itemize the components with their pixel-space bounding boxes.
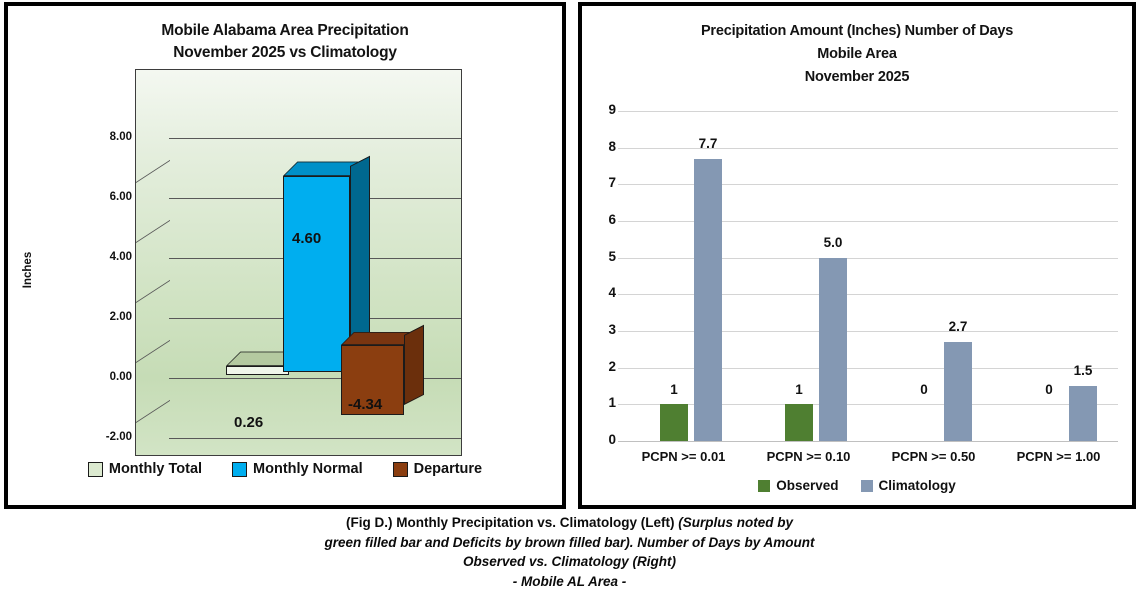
left-chart-legend: Monthly Total Monthly Normal Departure [8, 461, 562, 477]
right-y-axis-tick-labels: 9 8 7 6 5 4 3 2 1 0 [590, 111, 616, 441]
legend-label-observed: Observed [776, 478, 838, 493]
bar-value-departure: -4.34 [348, 396, 382, 413]
bar-label-observed-1: 1 [785, 382, 813, 397]
right-chart-title-line2: Mobile Area [582, 43, 1132, 66]
bar-climatology-0 [694, 159, 722, 441]
right-chart-legend: Observed Climatology [582, 478, 1132, 493]
right-chart-panel: Precipitation Amount (Inches) Number of … [578, 2, 1136, 509]
left-ytick-4: 4.00 [78, 251, 132, 263]
left-y-axis-tick-labels: 8.00 6.00 4.00 2.00 0.00 -2.00 [70, 69, 132, 456]
bar-label-climatology-2: 2.7 [944, 319, 972, 334]
legend-item-climatology[interactable]: Climatology [861, 478, 956, 493]
right-ytick-7: 7 [596, 175, 616, 190]
right-gridline-9 [618, 111, 1118, 112]
caption-line-3: Observed vs. Climatology (Right) [0, 552, 1139, 572]
right-ytick-6: 6 [596, 212, 616, 227]
legend-label-departure: Departure [414, 461, 483, 477]
xtick-pcpn-001: PCPN >= 0.01 [621, 449, 746, 464]
bar-climatology-2 [944, 342, 972, 441]
caption-line-4: - Mobile AL Area - [0, 572, 1139, 592]
left-ytick-0: 0.00 [78, 371, 132, 383]
left-plot-area: 0.26 4.60 -4.34 [135, 69, 462, 456]
legend-swatch-monthly-normal [232, 462, 247, 477]
legend-label-climatology: Climatology [879, 478, 956, 493]
left-chart-title-line1: Mobile Alabama Area Precipitation [8, 20, 562, 42]
caption-line-1-italic: (Surplus noted by [678, 515, 793, 530]
caption-line-1-plain: (Fig D.) Monthly Precipitation vs. Clima… [346, 515, 678, 530]
bar-label-observed-3: 0 [1035, 382, 1063, 397]
right-gridline-8 [618, 148, 1118, 149]
left-chart-title-line2: November 2025 vs Climatology [8, 42, 562, 64]
left-chart-title: Mobile Alabama Area Precipitation Novemb… [8, 20, 562, 64]
right-gridline-4 [618, 294, 1118, 295]
bar-monthly-normal [283, 176, 350, 372]
bar-label-climatology-3: 1.5 [1069, 363, 1097, 378]
xtick-pcpn-010: PCPN >= 0.10 [746, 449, 871, 464]
legend-label-monthly-normal: Monthly Normal [253, 461, 363, 477]
right-ytick-0: 0 [596, 432, 616, 447]
legend-swatch-climatology [861, 480, 873, 492]
caption-line-1: (Fig D.) Monthly Precipitation vs. Clima… [0, 513, 1139, 533]
xtick-pcpn-100: PCPN >= 1.00 [996, 449, 1121, 464]
legend-item-observed[interactable]: Observed [758, 478, 838, 493]
right-chart-title: Precipitation Amount (Inches) Number of … [582, 20, 1132, 89]
bar-label-observed-2: 0 [910, 382, 938, 397]
bar-label-climatology-1: 5.0 [819, 235, 847, 250]
right-ytick-2: 2 [596, 359, 616, 374]
right-x-axis-tick-labels: PCPN >= 0.01 PCPN >= 0.10 PCPN >= 0.50 P… [618, 449, 1118, 469]
right-ytick-4: 4 [596, 285, 616, 300]
right-ytick-9: 9 [596, 102, 616, 117]
legend-item-monthly-normal[interactable]: Monthly Normal [232, 461, 363, 477]
right-gridline-5 [618, 258, 1118, 259]
legend-item-departure[interactable]: Departure [393, 461, 483, 477]
caption-line-2: green filled bar and Deficits by brown f… [0, 533, 1139, 553]
right-ytick-3: 3 [596, 322, 616, 337]
legend-label-monthly-total: Monthly Total [109, 461, 202, 477]
right-ytick-8: 8 [596, 139, 616, 154]
bar-climatology-3 [1069, 386, 1097, 441]
legend-item-monthly-total[interactable]: Monthly Total [88, 461, 202, 477]
right-gridline-2 [618, 368, 1118, 369]
figure-caption: (Fig D.) Monthly Precipitation vs. Clima… [0, 513, 1139, 591]
right-ytick-1: 1 [596, 395, 616, 410]
bar-value-monthly-normal: 4.60 [292, 230, 321, 247]
right-axis-baseline [618, 441, 1118, 442]
bar-monthly-total [226, 366, 289, 375]
left-chart-panel: Mobile Alabama Area Precipitation Novemb… [4, 2, 566, 509]
legend-swatch-departure [393, 462, 408, 477]
bar-climatology-1 [819, 258, 847, 441]
right-chart-title-line1: Precipitation Amount (Inches) Number of … [582, 20, 1132, 43]
right-gridline-1 [618, 404, 1118, 405]
bar-label-climatology-0: 7.7 [694, 136, 722, 151]
left-ytick-2: 2.00 [78, 311, 132, 323]
right-gridline-7 [618, 184, 1118, 185]
right-gridline-3 [618, 331, 1118, 332]
legend-swatch-monthly-total [88, 462, 103, 477]
right-ytick-5: 5 [596, 249, 616, 264]
right-chart-title-line3: November 2025 [582, 66, 1132, 89]
bar-label-observed-0: 1 [660, 382, 688, 397]
left-y-axis-title: Inches [22, 230, 34, 310]
legend-swatch-observed [758, 480, 770, 492]
right-gridline-6 [618, 221, 1118, 222]
xtick-pcpn-050: PCPN >= 0.50 [871, 449, 996, 464]
right-plot-area: 1 7.7 1 5.0 0 2.7 0 1.5 [618, 111, 1118, 441]
left-ytick-6: 6.00 [78, 191, 132, 203]
bar-observed-0 [660, 404, 688, 441]
bar-observed-1 [785, 404, 813, 441]
left-ytick-neg2: -2.00 [78, 431, 132, 443]
left-ytick-8: 8.00 [78, 131, 132, 143]
bar-value-monthly-total: 0.26 [234, 414, 263, 431]
